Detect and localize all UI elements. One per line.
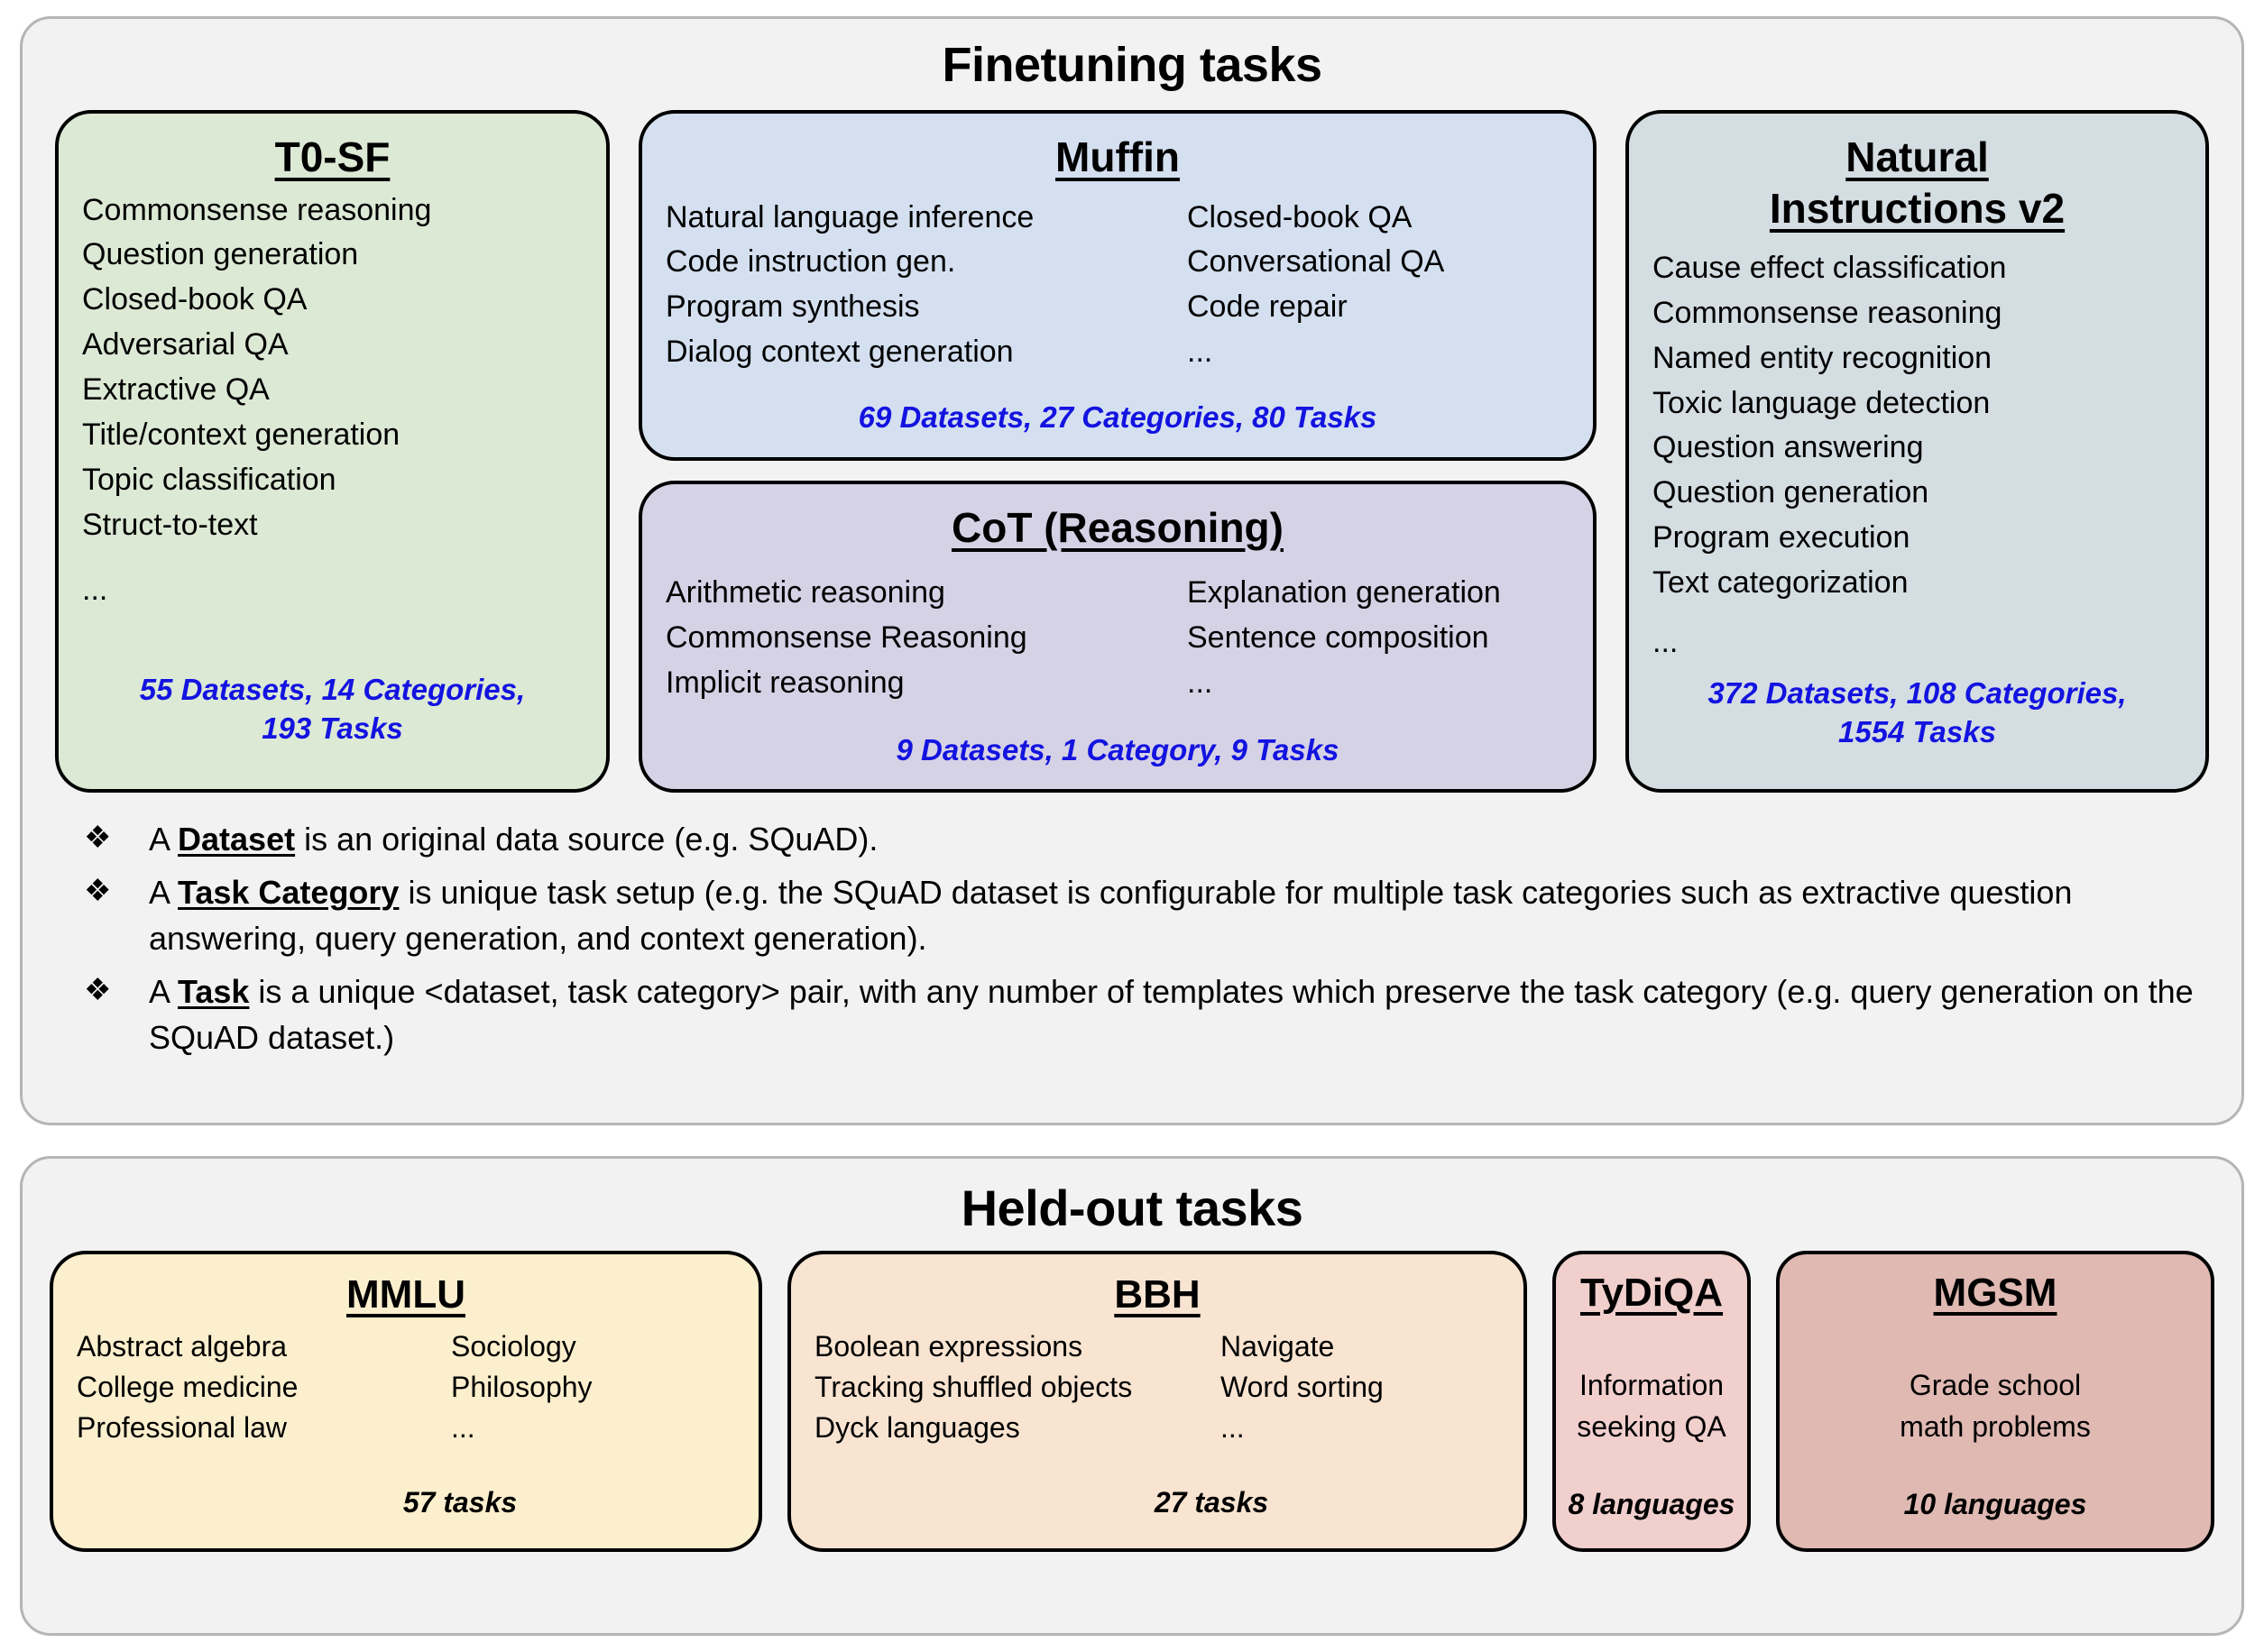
definition-dataset-text: A Dataset is an original data source (e.…	[149, 816, 2209, 862]
list-item: Conversational QA	[1187, 240, 1569, 285]
card-cot-title: CoT (Reasoning)	[666, 502, 1569, 553]
definition-suffix: is a unique <dataset, task category> pai…	[149, 973, 2194, 1056]
card-mmlu-stat: 57 tasks	[77, 1486, 735, 1519]
diamond-bullet-icon: ❖	[78, 816, 149, 859]
card-cot-items-left: Arithmetic reasoning Commonsense Reasoni…	[666, 571, 1187, 706]
list-item: math problems	[1790, 1406, 2200, 1447]
held-out-panel-title: Held-out tasks	[50, 1180, 2214, 1236]
list-item: Question answering	[1652, 426, 2182, 471]
card-mmlu: MMLU Abstract algebra College medicine P…	[50, 1251, 762, 1552]
card-cot-items: Arithmetic reasoning Commonsense Reasoni…	[666, 571, 1569, 706]
spacer	[1567, 1521, 1736, 1530]
list-item: Struct-to-text	[82, 503, 583, 548]
figure-root: Finetuning tasks T0-SF Commonsense reaso…	[0, 0, 2264, 1652]
list-item: Question generation	[1652, 471, 2182, 516]
finetuning-tasks-panel: Finetuning tasks T0-SF Commonsense reaso…	[20, 16, 2244, 1125]
spacer	[1790, 1447, 2200, 1487]
list-item: Adversarial QA	[82, 323, 583, 368]
definition-prefix: A	[149, 821, 178, 858]
list-item: Commonsense Reasoning	[666, 616, 1187, 661]
card-mmlu-items-left: Abstract algebra College medicine Profes…	[77, 1326, 451, 1449]
card-tydiqa-title: TyDiQA	[1567, 1271, 1736, 1316]
list-item: Text categorization	[1652, 561, 2182, 606]
spacer	[77, 1519, 735, 1528]
definition-term: Dataset	[178, 821, 295, 858]
list-item: Professional law	[77, 1408, 451, 1448]
list-item: ...	[1187, 330, 1569, 375]
list-item: Arithmetic reasoning	[666, 571, 1187, 616]
card-mgsm-title: MGSM	[1790, 1271, 2200, 1316]
spacer	[1567, 1325, 1736, 1364]
card-tydiqa-stat: 8 languages	[1567, 1488, 1736, 1521]
definitions-list: ❖ A Dataset is an original data source (…	[55, 816, 2209, 1061]
card-mgsm: MGSM Grade school math problems 10 langu…	[1776, 1251, 2214, 1552]
list-item: ...	[1187, 661, 1569, 706]
held-out-cards-row: MMLU Abstract algebra College medicine P…	[50, 1251, 2214, 1552]
list-item: Sociology	[451, 1326, 735, 1367]
card-niv2-title-line1: Natural	[1845, 133, 1988, 180]
list-item: Question generation	[82, 233, 583, 278]
spacer	[1567, 1447, 1736, 1487]
card-niv2-stat-line1: 372 Datasets, 108 Categories,	[1652, 675, 2182, 712]
card-t0-sf-ellipsis: ...	[82, 568, 583, 613]
definition-task-category: ❖ A Task Category is unique task setup (…	[78, 869, 2209, 961]
spacer	[814, 1519, 1500, 1528]
list-item: ...	[1220, 1408, 1500, 1448]
card-niv2-stat-line2: 1554 Tasks	[1652, 713, 2182, 751]
held-out-tasks-panel: Held-out tasks MMLU Abstract algebra Col…	[20, 1156, 2244, 1636]
definition-dataset: ❖ A Dataset is an original data source (…	[78, 816, 2209, 862]
card-cot: CoT (Reasoning) Arithmetic reasoning Com…	[639, 481, 1597, 793]
list-item: Extractive QA	[82, 368, 583, 413]
definition-prefix: A	[149, 874, 178, 911]
card-muffin-items-right: Closed-book QA Conversational QA Code re…	[1187, 196, 1569, 376]
definition-suffix: is unique task setup (e.g. the SQuAD dat…	[149, 874, 2072, 957]
list-item: Closed-book QA	[82, 278, 583, 323]
card-muffin-title: Muffin	[666, 132, 1569, 182]
spacer	[82, 613, 583, 671]
diamond-bullet-icon: ❖	[78, 968, 149, 1012]
list-item: Closed-book QA	[1187, 196, 1569, 241]
finetuning-cards-row: T0-SF Commonsense reasoning Question gen…	[55, 110, 2209, 792]
definition-task: ❖ A Task is a unique <dataset, task cate…	[78, 968, 2209, 1060]
definition-prefix: A	[149, 973, 178, 1010]
list-item: College medicine	[77, 1367, 451, 1408]
card-muffin-items-left: Natural language inference Code instruct…	[666, 196, 1187, 376]
card-muffin-items: Natural language inference Code instruct…	[666, 196, 1569, 376]
list-item: Title/context generation	[82, 413, 583, 458]
card-tydiqa: TyDiQA Information seeking QA 8 language…	[1552, 1251, 1751, 1552]
card-t0-sf-stat-line1: 55 Datasets, 14 Categories,	[82, 671, 583, 709]
spacer	[77, 1449, 735, 1486]
card-tydiqa-items: Information seeking QA	[1567, 1364, 1736, 1448]
card-t0-sf-stat-line2: 193 Tasks	[82, 710, 583, 748]
card-bbh-stat: 27 tasks	[814, 1486, 1500, 1519]
spacer	[814, 1449, 1500, 1486]
list-item: Commonsense reasoning	[82, 188, 583, 234]
card-bbh-items: Boolean expressions Tracking shuffled ob…	[814, 1326, 1500, 1449]
spacer	[666, 706, 1569, 731]
list-item: Tracking shuffled objects	[814, 1367, 1220, 1408]
list-item: Implicit reasoning	[666, 661, 1187, 706]
list-item: Commonsense reasoning	[1652, 291, 2182, 336]
card-t0-sf: T0-SF Commonsense reasoning Question gen…	[55, 110, 610, 792]
card-niv2-title-line2: Instructions v2	[1770, 185, 2065, 232]
card-mmlu-title: MMLU	[77, 1272, 735, 1317]
card-cot-items-right: Explanation generation Sentence composit…	[1187, 571, 1569, 706]
list-item: Topic classification	[82, 458, 583, 503]
card-cot-stat: 9 Datasets, 1 Category, 9 Tasks	[666, 731, 1569, 769]
card-bbh-title: BBH	[814, 1272, 1500, 1317]
card-bbh: BBH Boolean expressions Tracking shuffle…	[787, 1251, 1527, 1552]
list-item: Boolean expressions	[814, 1326, 1220, 1367]
spacer	[82, 748, 583, 769]
list-item: Cause effect classification	[1652, 246, 2182, 291]
list-item: Program execution	[1652, 516, 2182, 561]
list-item: Explanation generation	[1187, 571, 1569, 616]
list-item: Code instruction gen.	[666, 240, 1187, 285]
card-mgsm-items: Grade school math problems	[1790, 1364, 2200, 1448]
list-item: Code repair	[1187, 285, 1569, 330]
spacer	[1790, 1521, 2200, 1530]
card-natural-instructions-v2: Natural Instructions v2 Cause effect cla…	[1625, 110, 2209, 792]
definition-term: Task	[178, 973, 249, 1010]
list-item: Grade school	[1790, 1364, 2200, 1406]
list-item: Navigate	[1220, 1326, 1500, 1367]
middle-column: Muffin Natural language inference Code i…	[639, 110, 1597, 792]
card-muffin-stat: 69 Datasets, 27 Categories, 80 Tasks	[666, 399, 1569, 436]
card-muffin: Muffin Natural language inference Code i…	[639, 110, 1597, 460]
list-item: Dialog context generation	[666, 330, 1187, 375]
list-item: Toxic language detection	[1652, 381, 2182, 427]
card-mmlu-items-right: Sociology Philosophy ...	[451, 1326, 735, 1449]
definition-term: Task Category	[178, 874, 399, 911]
card-niv2-title: Natural Instructions v2	[1652, 132, 2182, 233]
list-item: ...	[451, 1408, 735, 1448]
definition-task-text: A Task is a unique <dataset, task catego…	[149, 968, 2209, 1060]
card-t0-sf-items: Commonsense reasoning Question generatio…	[82, 188, 583, 549]
card-mgsm-stat: 10 languages	[1790, 1488, 2200, 1521]
card-niv2-items: Cause effect classification Commonsense …	[1652, 246, 2182, 607]
finetuning-panel-title: Finetuning tasks	[55, 39, 2209, 92]
list-item: Natural language inference	[666, 196, 1187, 241]
list-item: Named entity recognition	[1652, 336, 2182, 381]
list-item: Abstract algebra	[77, 1326, 451, 1367]
list-item: Program synthesis	[666, 285, 1187, 330]
definition-suffix: is an original data source (e.g. SQuAD).	[295, 821, 878, 858]
list-item: seeking QA	[1567, 1406, 1736, 1447]
list-item: Philosophy	[451, 1367, 735, 1408]
card-niv2-ellipsis: ...	[1652, 620, 2182, 665]
spacer	[1790, 1325, 2200, 1364]
spacer	[1652, 751, 2182, 769]
card-bbh-items-right: Navigate Word sorting ...	[1220, 1326, 1500, 1449]
spacer	[1652, 665, 2182, 675]
list-item: Sentence composition	[1187, 616, 1569, 661]
card-t0-sf-title: T0-SF	[82, 132, 583, 182]
list-item: Word sorting	[1220, 1367, 1500, 1408]
list-item: Information	[1567, 1364, 1736, 1406]
card-bbh-items-left: Boolean expressions Tracking shuffled ob…	[814, 1326, 1220, 1449]
list-item: Dyck languages	[814, 1408, 1220, 1448]
diamond-bullet-icon: ❖	[78, 869, 149, 913]
definition-task-category-text: A Task Category is unique task setup (e.…	[149, 869, 2209, 961]
card-mmlu-items: Abstract algebra College medicine Profes…	[77, 1326, 735, 1449]
